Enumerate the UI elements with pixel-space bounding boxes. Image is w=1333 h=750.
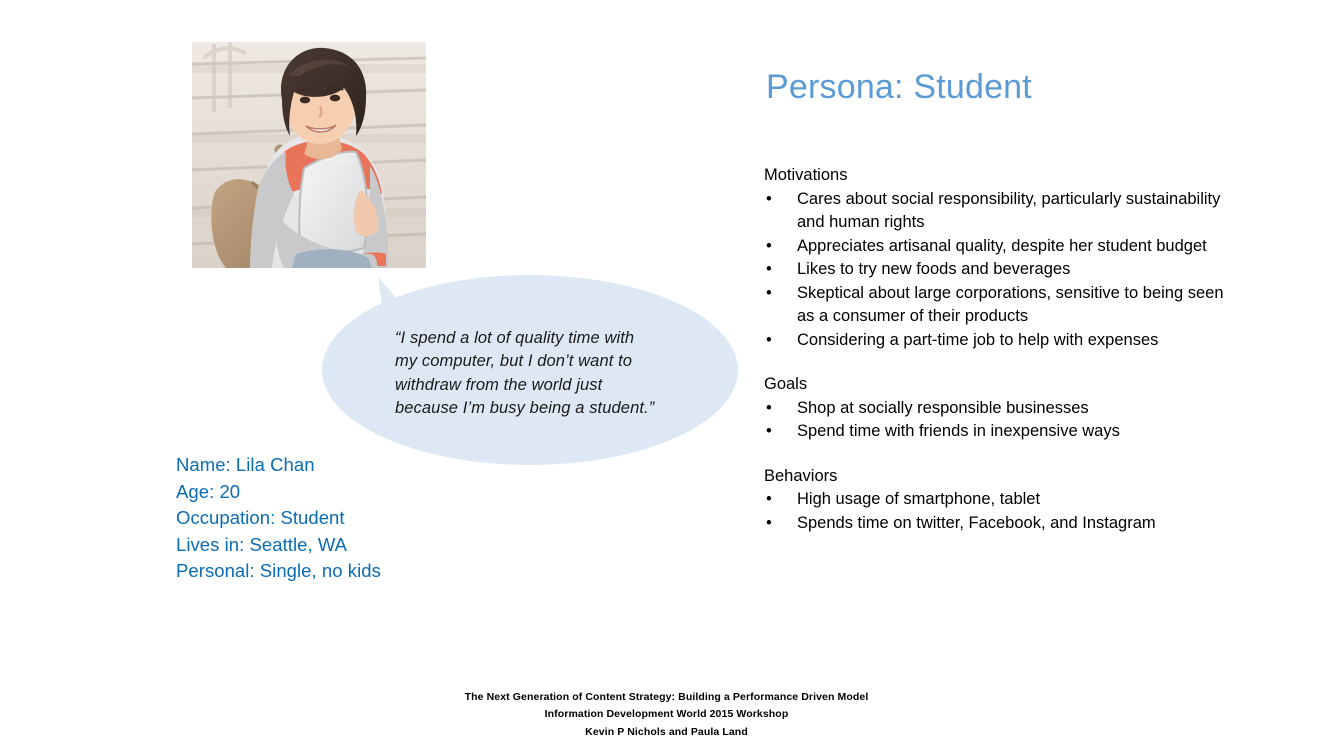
persona-detail-location: Lives in: Seattle, WA <box>176 532 381 559</box>
persona-detail-personal: Personal: Single, no kids <box>176 558 381 585</box>
list-item-label: Considering a part-time job to help with… <box>797 331 1158 349</box>
list-item: •Shop at socially responsible businesses <box>764 397 1234 421</box>
bullet-icon: • <box>766 282 776 306</box>
goals-list: •Shop at socially responsible businesses… <box>764 397 1234 444</box>
section-behaviors: Behaviors •High usage of smartphone, tab… <box>764 465 1234 536</box>
quote-line: my computer, but I don’t want to <box>395 350 685 373</box>
quote-line: “I spend a lot of quality time with <box>395 327 685 350</box>
list-item-label: Spends time on twitter, Facebook, and In… <box>797 514 1156 532</box>
list-item: •Spend time with friends in inexpensive … <box>764 420 1234 444</box>
student-photo <box>192 42 426 268</box>
list-item: •Cares about social responsibility, part… <box>764 188 1234 235</box>
footer-line-authors: Kevin P Nichols and Paula Land <box>0 724 1333 741</box>
list-item-label: Shop at socially responsible businesses <box>797 399 1089 417</box>
section-heading: Goals <box>764 373 1234 397</box>
list-item: •Appreciates artisanal quality, despite … <box>764 235 1234 259</box>
student-photo-illustration <box>192 42 426 268</box>
list-item-label: Appreciates artisanal quality, despite h… <box>797 237 1207 255</box>
quote-text: “I spend a lot of quality time with my c… <box>395 327 685 420</box>
bullet-icon: • <box>766 420 776 444</box>
slide-canvas: “I spend a lot of quality time with my c… <box>0 0 1333 750</box>
bullet-icon: • <box>766 188 776 212</box>
list-item-label: Cares about social responsibility, parti… <box>797 190 1220 232</box>
bullet-icon: • <box>766 329 776 353</box>
section-goals: Goals •Shop at socially responsible busi… <box>764 373 1234 444</box>
section-motivations: Motivations •Cares about social responsi… <box>764 164 1234 352</box>
section-heading: Motivations <box>764 164 1234 188</box>
list-item: •Spends time on twitter, Facebook, and I… <box>764 512 1234 536</box>
persona-detail-age: Age: 20 <box>176 479 381 506</box>
persona-details: Name: Lila Chan Age: 20 Occupation: Stud… <box>176 452 381 585</box>
section-heading: Behaviors <box>764 465 1234 489</box>
quote-speech-bubble: “I spend a lot of quality time with my c… <box>318 265 743 470</box>
footer-line-title: The Next Generation of Content Strategy:… <box>0 689 1333 706</box>
list-item: •Likes to try new foods and beverages <box>764 258 1234 282</box>
quote-line: because I’m busy being a student.” <box>395 397 685 420</box>
list-item: •High usage of smartphone, tablet <box>764 488 1234 512</box>
quote-line: withdraw from the world just <box>395 374 685 397</box>
persona-detail-occupation: Occupation: Student <box>176 505 381 532</box>
page-title: Persona: Student <box>766 65 1032 109</box>
persona-attributes-column: Motivations •Cares about social responsi… <box>764 164 1234 535</box>
list-item-label: Spend time with friends in inexpensive w… <box>797 422 1120 440</box>
list-item-label: Skeptical about large corporations, sens… <box>797 284 1224 326</box>
bullet-icon: • <box>766 512 776 536</box>
bullet-icon: • <box>766 488 776 512</box>
bullet-icon: • <box>766 235 776 259</box>
list-item-label: High usage of smartphone, tablet <box>797 490 1040 508</box>
list-item: •Skeptical about large corporations, sen… <box>764 282 1234 329</box>
behaviors-list: •High usage of smartphone, tablet •Spend… <box>764 488 1234 535</box>
motivations-list: •Cares about social responsibility, part… <box>764 188 1234 353</box>
list-item: •Considering a part-time job to help wit… <box>764 329 1234 353</box>
list-item-label: Likes to try new foods and beverages <box>797 260 1070 278</box>
bullet-icon: • <box>766 397 776 421</box>
slide-footer: The Next Generation of Content Strategy:… <box>0 689 1333 741</box>
footer-line-event: Information Development World 2015 Works… <box>0 706 1333 723</box>
persona-detail-name: Name: Lila Chan <box>176 452 381 479</box>
bullet-icon: • <box>766 258 776 282</box>
